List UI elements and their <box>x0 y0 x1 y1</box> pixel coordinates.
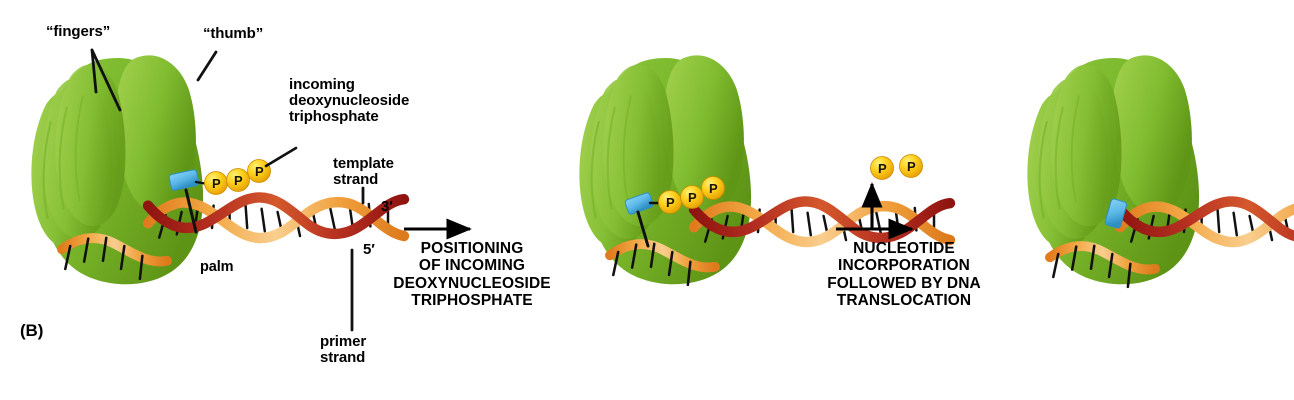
caption-positioning: POSITIONING OF INCOMING DEOXYNUCLEOSIDE … <box>392 240 552 309</box>
label-fingers: “fingers” <box>46 24 110 40</box>
triphosphate-group <box>205 160 271 195</box>
leader-incoming-dntp <box>266 148 296 166</box>
panel-letter: (B) <box>20 322 43 340</box>
diagram-artwork <box>0 0 1294 400</box>
dna-polymerase-figure: (B) “fingers” “thumb” incoming deoxynucl… <box>0 0 1294 400</box>
label-thumb: “thumb” <box>203 26 263 42</box>
label-five-prime: 5′ <box>363 242 375 258</box>
label-incoming-dntp: incoming deoxynucleoside triphosphate <box>289 77 409 126</box>
leader-thumb <box>198 52 216 80</box>
released-pyrophosphate <box>871 155 923 180</box>
label-template-strand: template strand <box>333 156 394 188</box>
label-three-prime: 3′ <box>381 199 393 215</box>
label-primer-strand: primer strand <box>320 334 366 366</box>
caption-incorporation: NUCLEOTIDE INCORPORATION FOLLOWED BY DNA… <box>820 240 988 309</box>
label-palm: palm <box>200 260 233 276</box>
panel-translocated <box>1027 55 1294 287</box>
